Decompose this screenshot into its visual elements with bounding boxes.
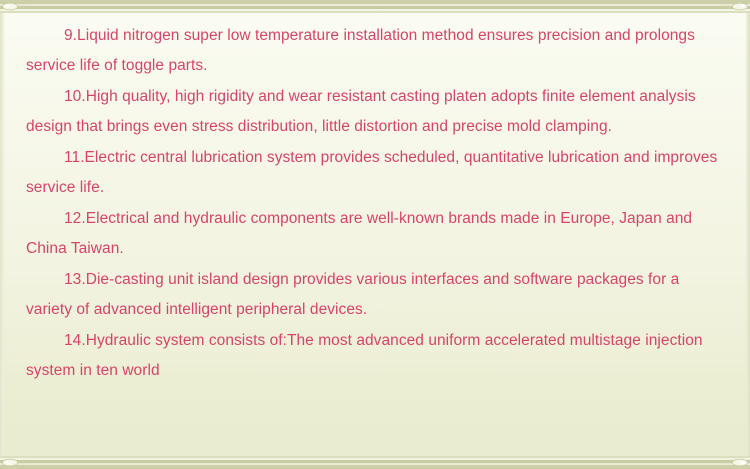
border-stripe: [0, 465, 750, 469]
border-stripe: [0, 463, 750, 465]
feature-list: 9.Liquid nitrogen super low temperature …: [0, 13, 750, 452]
feature-item-10: 10.High quality, high rigidity and wear …: [26, 82, 728, 142]
feature-item-13: 13.Die-casting unit island design provid…: [26, 265, 728, 325]
feature-item-11: 11.Electric central lubrication system p…: [26, 143, 728, 203]
top-decorative-border: [0, 0, 750, 13]
decorative-document-panel: 9.Liquid nitrogen super low temperature …: [0, 0, 750, 469]
leaf-ornament-icon: [722, 455, 748, 468]
border-stripe: [0, 458, 750, 460]
border-stripe: [0, 4, 750, 6]
border-stripe: [0, 0, 750, 4]
border-stripe: [0, 460, 750, 463]
feature-item-9: 9.Liquid nitrogen super low temperature …: [26, 21, 728, 81]
leaf-ornament-icon: [2, 455, 28, 468]
border-stripe: [0, 456, 750, 458]
feature-item-14: 14.Hydraulic system consists of:The most…: [26, 326, 728, 386]
bottom-decorative-border: [0, 456, 750, 469]
feature-item-12: 12.Electrical and hydraulic components a…: [26, 204, 728, 264]
border-stripe: [0, 9, 750, 11]
border-stripe: [0, 6, 750, 9]
